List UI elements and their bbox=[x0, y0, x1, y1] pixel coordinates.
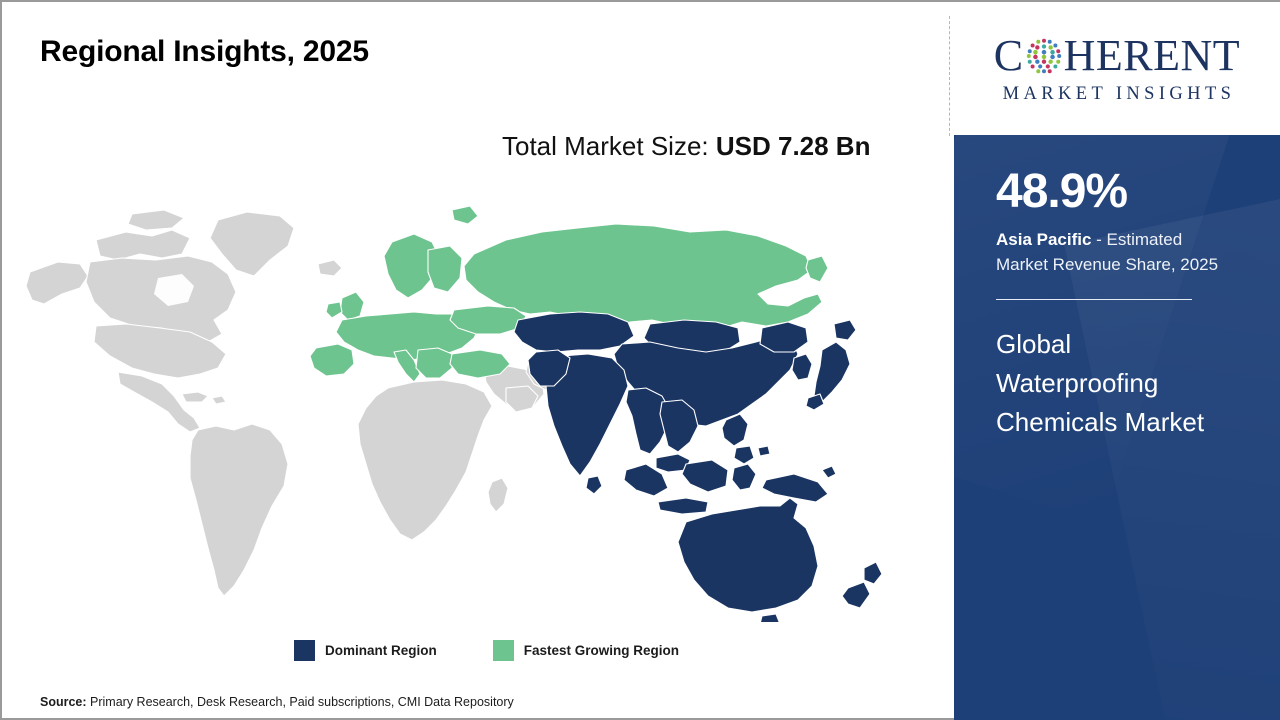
total-market-size: Total Market Size: USD 7.28 Bn bbox=[502, 128, 894, 166]
source-text: Primary Research, Desk Research, Paid su… bbox=[87, 695, 514, 709]
highlight-panel-content: 48.9% Asia Pacific - Estimated Market Re… bbox=[954, 167, 1280, 442]
logo-wordmark: C bbox=[994, 33, 1240, 79]
source-label: Source: bbox=[40, 695, 87, 709]
source-note: Source: Primary Research, Desk Research,… bbox=[40, 695, 514, 709]
market-size-value: USD 7.28 Bn bbox=[716, 131, 871, 161]
world-map-svg bbox=[22, 202, 922, 622]
legend-swatch-dominant bbox=[294, 640, 315, 661]
legend-label-fastest-growing: Fastest Growing Region bbox=[524, 643, 679, 658]
share-value: 48.9% bbox=[996, 167, 1238, 217]
logo-coherent-market-insights: C bbox=[954, 2, 1280, 135]
logo-letter-c: C bbox=[994, 34, 1024, 78]
legend-item-dominant: Dominant Region bbox=[294, 640, 437, 661]
market-name: Global Waterproofing Chemicals Market bbox=[996, 325, 1238, 442]
map-legend: Dominant Region Fastest Growing Region bbox=[294, 640, 679, 661]
share-region: Asia Pacific bbox=[996, 230, 1091, 249]
regional-insights-infographic: Regional Insights, 2025 Total Market Siz… bbox=[0, 0, 1280, 720]
world-map bbox=[22, 202, 922, 622]
vertical-divider bbox=[949, 16, 950, 136]
panel-divider-rule bbox=[996, 299, 1192, 300]
page-title: Regional Insights, 2025 bbox=[40, 35, 369, 69]
left-content-panel: Regional Insights, 2025 Total Market Siz… bbox=[2, 2, 948, 718]
logo-subtitle: MARKET INSIGHTS bbox=[999, 84, 1236, 105]
share-description: Asia Pacific - Estimated Market Revenue … bbox=[996, 228, 1236, 278]
legend-label-dominant: Dominant Region bbox=[325, 643, 437, 658]
logo-letters-herent: HERENT bbox=[1064, 34, 1241, 78]
globe-dots-icon bbox=[1025, 37, 1063, 75]
market-size-prefix: Total Market Size: bbox=[502, 131, 716, 161]
legend-item-fastest-growing: Fastest Growing Region bbox=[493, 640, 679, 661]
highlight-panel: 48.9% Asia Pacific - Estimated Market Re… bbox=[954, 135, 1280, 720]
legend-swatch-fastest-growing bbox=[493, 640, 514, 661]
map-region-dominant bbox=[514, 312, 882, 622]
